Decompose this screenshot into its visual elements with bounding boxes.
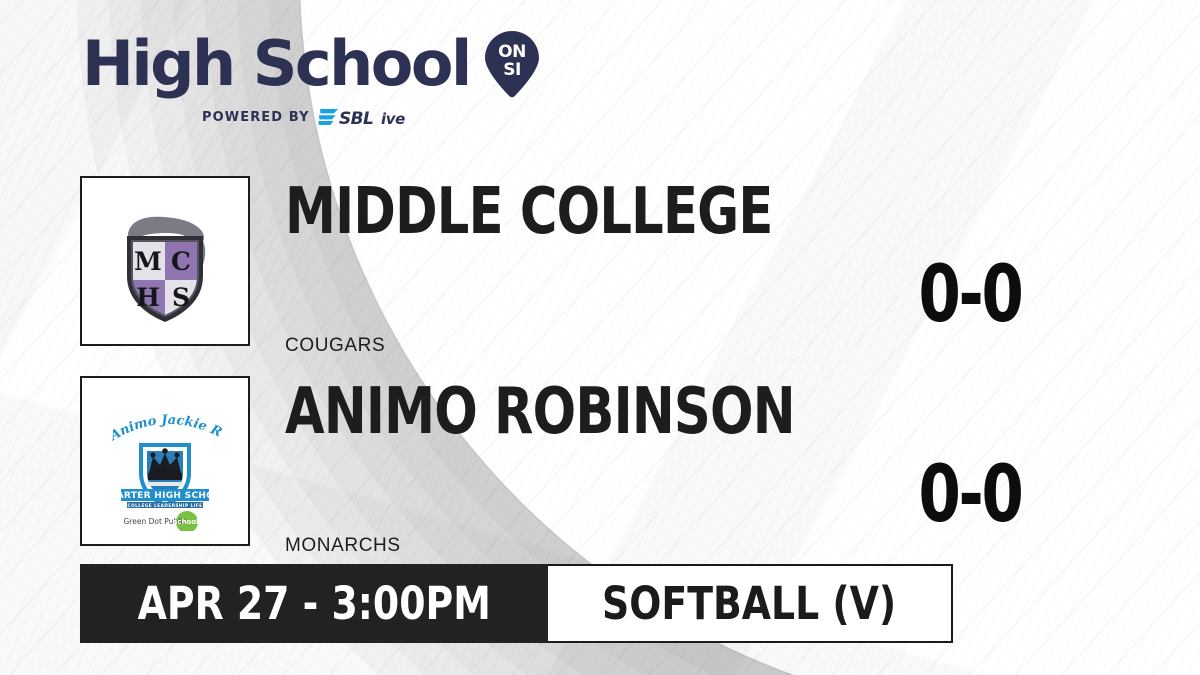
- game-sport-text: SOFTBALL (V): [602, 581, 896, 626]
- matchup-graphic: High School ON SI POWERED BY SBL: [0, 0, 1200, 675]
- team-mascot-home: COUGARS: [285, 335, 385, 357]
- game-info-bar: APR 27 - 3:00PM SOFTBALL (V): [80, 564, 953, 643]
- svg-text:S: S: [172, 283, 190, 312]
- sblive-logo: SBL ive: [318, 106, 422, 128]
- team-record-away: 0-0: [884, 456, 1056, 534]
- svg-text:Animo Jackie Robinson: Animo Jackie Robinson: [95, 391, 224, 445]
- brand-header: High School ON SI POWERED BY SBL: [82, 30, 540, 128]
- svg-text:H: H: [136, 283, 160, 312]
- svg-text:M: M: [134, 247, 162, 276]
- game-datetime-text: APR 27 - 3:00PM: [138, 581, 491, 626]
- team-name-away: ANIMO ROBINSON: [285, 380, 795, 444]
- svg-text:ON: ON: [498, 42, 526, 62]
- powered-by-label: POWERED BY: [202, 110, 310, 125]
- svg-text:COLLEGE LEADERSHIP LIFE: COLLEGE LEADERSHIP LIFE: [128, 503, 203, 508]
- middle-college-shield-logo: M C H S: [80, 176, 250, 346]
- game-sport-block: SOFTBALL (V): [548, 564, 952, 643]
- sblive-s-mark-icon: [318, 109, 338, 125]
- powered-by-row: POWERED BY SBL ive: [202, 106, 540, 128]
- svg-text:CHARTER HIGH SCHOOL: CHARTER HIGH SCHOOL: [102, 491, 228, 501]
- animo-jackie-robinson-logo: Animo Jackie Robinson CHARTER HIGH SCH: [80, 376, 250, 546]
- svg-text:SBL: SBL: [339, 109, 373, 128]
- svg-text:schools: schools: [173, 518, 202, 526]
- team-name-home: MIDDLE COLLEGE: [285, 180, 773, 244]
- team-mascot-away: MONARCHS: [285, 535, 401, 557]
- team-record-home: 0-0: [884, 256, 1056, 334]
- svg-text:C: C: [171, 247, 191, 276]
- svg-text:SI: SI: [503, 60, 521, 80]
- brand-title-row: High School ON SI: [82, 30, 540, 98]
- page-title: High School: [82, 32, 470, 96]
- game-datetime-block: APR 27 - 3:00PM: [80, 564, 548, 643]
- svg-text:ive: ive: [381, 110, 405, 128]
- location-pin-icon: ON SI: [484, 30, 540, 98]
